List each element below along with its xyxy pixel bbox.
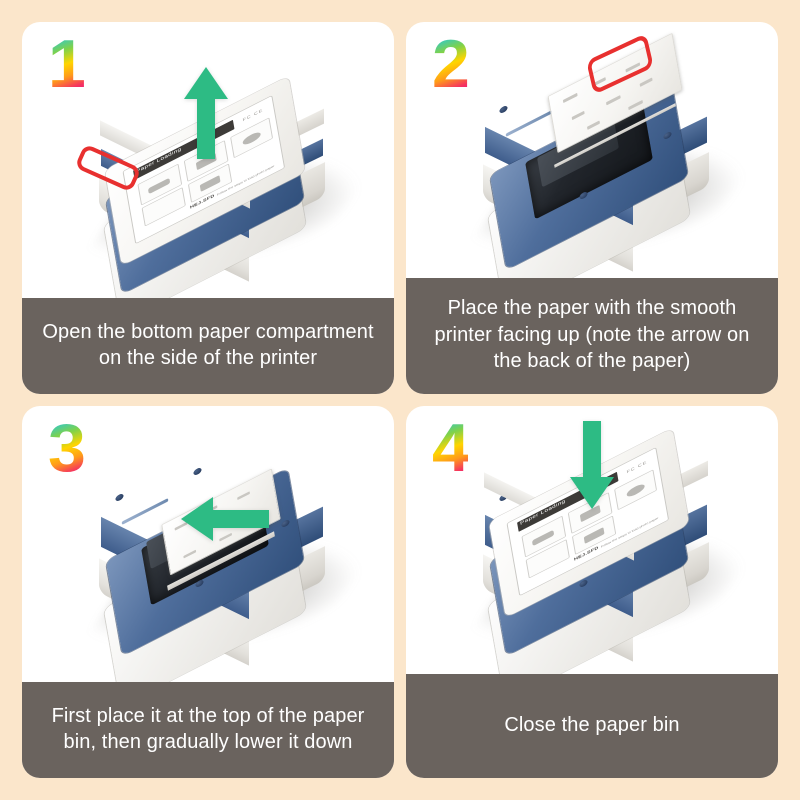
step-caption-1: Open the bottom paper compartment on the…	[22, 298, 394, 394]
step-caption-2: Place the paper with the smooth printer …	[406, 278, 778, 394]
step-panel-1: 1 Paper Loading	[22, 22, 394, 394]
step-panel-2: 2	[406, 22, 778, 394]
step-panel-3: 3	[22, 406, 394, 778]
instruction-grid: 1 Paper Loading	[0, 0, 800, 800]
printer-scene-2	[427, 25, 757, 275]
step-number-3: 3	[48, 414, 84, 482]
tray-rail-left	[506, 110, 553, 137]
printer-scene-3	[43, 419, 373, 669]
arrow-left-green-icon	[179, 495, 271, 543]
tray-screw-back	[193, 467, 202, 477]
printer-scene-1: Paper Loading HEJ.SFD Follow the steps t…	[43, 35, 373, 285]
tray-screw-left	[115, 493, 124, 503]
step-panel-4: 4 Paper Load	[406, 406, 778, 778]
step-number-1: 1	[48, 30, 84, 98]
step-number-2: 2	[432, 30, 468, 98]
tray-rail-left	[122, 498, 169, 525]
step-caption-3: First place it at the top of the paper b…	[22, 682, 394, 778]
arrow-down-green-icon	[569, 419, 615, 511]
arrow-up-green-icon	[183, 65, 229, 161]
step-caption-4: Close the paper bin	[406, 674, 778, 778]
step-number-4: 4	[432, 414, 468, 482]
printer-scene-4: Paper Loading HEJ.SFD Follow the steps t…	[427, 415, 757, 665]
tray-screw-left	[499, 105, 508, 115]
